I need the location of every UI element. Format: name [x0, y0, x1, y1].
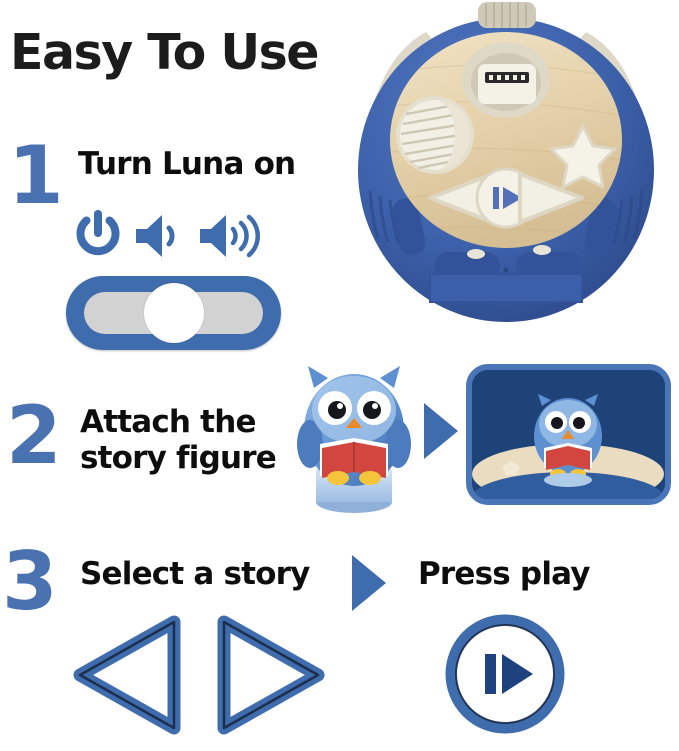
arrow-right-icon-2 — [348, 552, 390, 614]
step-1-number: 1 — [8, 136, 64, 216]
toggle-knob[interactable] — [144, 283, 204, 343]
battery-cover — [430, 274, 582, 302]
owl-eye-right — [363, 401, 381, 419]
owl-foot-right — [359, 471, 381, 485]
step-2-number: 2 — [6, 396, 62, 476]
owl-on-device-photo — [466, 364, 671, 505]
arrow-right-icon — [420, 400, 462, 462]
step-3-text-right: Press play — [418, 556, 590, 592]
volume-dial — [396, 96, 474, 174]
pause-bar-icon — [485, 654, 496, 694]
power-icon — [72, 208, 124, 262]
play-pause-button[interactable] — [443, 612, 567, 736]
infographic-root: Easy To Use 1 Turn Luna on 2 Attach the … — [0, 0, 679, 751]
owl-eye-left — [328, 401, 346, 419]
speaker-high-icon — [196, 210, 270, 264]
panel-scene — [472, 370, 665, 499]
owl-story-figure — [288, 352, 420, 514]
page-title: Easy To Use — [10, 28, 318, 77]
top-knob — [478, 2, 536, 28]
step-1-icon-row — [72, 208, 282, 264]
next-triangle-button[interactable] — [206, 612, 336, 738]
step-3-text: Select a story — [80, 556, 310, 592]
play-triangle-icon — [502, 654, 533, 694]
speaker-low-icon — [132, 210, 188, 264]
owl-foot-left — [327, 471, 349, 485]
luna-story-speaker — [330, 2, 679, 342]
previous-triangle-button[interactable] — [62, 612, 192, 738]
step-2-text: Attach the story figure — [80, 404, 276, 476]
power-toggle-switch[interactable] — [66, 276, 281, 350]
connector-port — [462, 42, 550, 118]
step-3-number: 3 — [2, 542, 58, 622]
step-1-text: Turn Luna on — [78, 146, 295, 182]
